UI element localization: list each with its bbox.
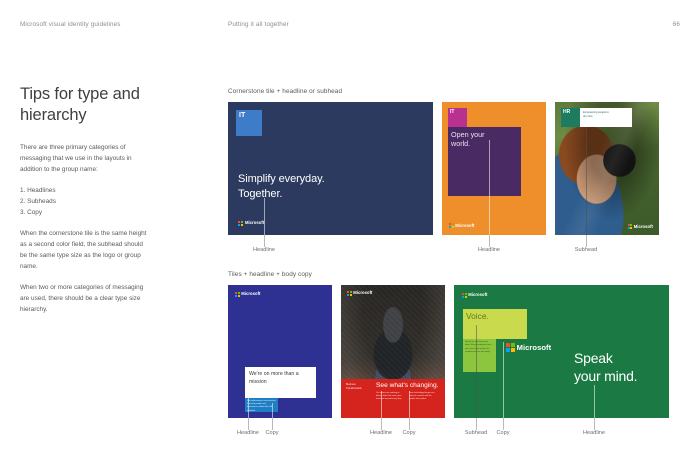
section-label-cornerstone: Cornerstone tile + headline or subhead	[228, 88, 680, 95]
card-captions: Headline	[442, 235, 546, 257]
caption-leader	[489, 235, 490, 247]
card-artwork-photo-red: Microsoft Business Transformation See wh…	[341, 285, 445, 418]
card-copy: Speak up and share your ideas. Every emp…	[465, 341, 494, 354]
example-row-tiles-copy: Microsoft We're on more than a mission W…	[228, 285, 680, 440]
card-headline: Speak your mind.	[574, 350, 637, 385]
caption-headline: Headline	[478, 247, 500, 253]
section-label-tiles-copy: Tiles + headline + body copy	[228, 271, 680, 278]
caption-leader	[248, 418, 249, 430]
example-card-blue-mission[interactable]: Microsoft We're on more than a mission W…	[228, 285, 332, 440]
caption-headline: Headline	[370, 430, 392, 436]
list-item: 2. Subheads	[20, 196, 170, 207]
microsoft-logo: Microsoft	[238, 221, 264, 226]
card-captions: Subhead Copy Headline	[454, 418, 669, 440]
microsoft-logo-squares	[462, 293, 467, 298]
list-item: 1. Headlines	[20, 185, 170, 196]
microsoft-wordmark: Microsoft	[468, 293, 487, 297]
leader-line	[503, 342, 504, 418]
leader-line	[381, 391, 382, 418]
card-artwork-orange: IT Open your world. Microsoft	[442, 102, 546, 235]
microsoft-logo-squares	[235, 292, 240, 297]
list-item: 3. Copy	[20, 207, 170, 218]
tip-paragraph-cornerstone: When the cornerstone tile is the same he…	[20, 228, 148, 272]
cornerstone-tile-it: IT	[448, 108, 467, 127]
microsoft-wordmark: Microsoft	[455, 224, 474, 228]
card-headline: See what's changing.	[376, 382, 438, 389]
microsoft-wordmark: Microsoft	[241, 292, 260, 296]
copy-box: Speak up and share your ideas. Every emp…	[463, 339, 496, 372]
card-copy-column-2: New technology brings new ways to connec…	[409, 392, 437, 402]
example-card-orange-subhead[interactable]: IT Open your world. Microsoft Headline	[442, 102, 546, 257]
caption-leader	[594, 418, 595, 430]
caption-leader	[586, 235, 587, 247]
leader-line	[409, 391, 410, 418]
copy-box: We build products and services that help…	[245, 398, 278, 412]
caption-copy: Copy	[265, 430, 278, 436]
caption-leader	[264, 235, 265, 247]
intro-paragraph: There are three primary categories of me…	[20, 142, 148, 175]
card-artwork-green: Microsoft Voice. Speak up and share your…	[454, 285, 669, 418]
caption-headline: Headline	[583, 430, 605, 436]
runhead-left-title: Microsoft visual identity guidelines	[20, 21, 121, 28]
caption-headline: Headline	[253, 247, 275, 253]
caption-leader	[381, 418, 382, 430]
microsoft-logo-squares	[238, 221, 243, 226]
runhead-section: Putting it all together	[228, 21, 289, 28]
running-head: Microsoft visual identity guidelines Put…	[0, 21, 700, 33]
cornerstone-tile-hr: HR	[561, 108, 580, 127]
headline-box: We're on more than a mission	[245, 367, 316, 398]
microsoft-logo-squares	[449, 223, 454, 228]
card-artwork-navy: IT Simplify everyday. Together. Microsof…	[228, 102, 433, 235]
cornerstone-tile-it: IT	[236, 110, 262, 136]
card-captions: Headline Copy	[341, 418, 445, 440]
microsoft-wordmark: Microsoft	[517, 344, 552, 352]
page-title: Tips for type and hierarchy	[20, 84, 170, 126]
card-subhead: Business Transformation	[346, 383, 370, 391]
microsoft-logo: Microsoft	[449, 223, 474, 228]
example-card-navy-cornerstone[interactable]: IT Simplify everyday. Together. Microsof…	[228, 102, 433, 257]
example-card-red-change[interactable]: Microsoft Business Transformation See wh…	[341, 285, 445, 440]
caption-leader	[476, 418, 477, 430]
card-artwork-photo-hr: HR Empowering people to do more Microsof…	[555, 102, 659, 235]
microsoft-logo-squares	[506, 343, 515, 352]
microsoft-logo: Microsoft	[462, 293, 487, 298]
card-artwork-blue: Microsoft We're on more than a mission W…	[228, 285, 332, 418]
microsoft-logo: Microsoft	[628, 224, 653, 229]
caption-subhead: Subhead	[575, 247, 597, 253]
category-list: 1. Headlines 2. Subheads 3. Copy	[20, 185, 170, 218]
leader-line	[272, 403, 273, 418]
leader-line	[489, 140, 490, 235]
card-headline: We're on more than a mission	[249, 371, 309, 386]
microsoft-logo-squares	[628, 224, 633, 229]
leader-line	[476, 325, 477, 418]
microsoft-wordmark: Microsoft	[353, 291, 372, 295]
tip-paragraph-hierarchy: When two or more categories of messaging…	[20, 282, 148, 315]
example-gallery: Cornerstone tile + headline or subhead I…	[228, 88, 680, 440]
example-card-photo-hr[interactable]: HR Empowering people to do more Microsof…	[555, 102, 659, 257]
microsoft-logo-large: Microsoft	[506, 343, 551, 352]
leader-line	[264, 198, 265, 235]
card-captions: Subhead	[555, 235, 659, 257]
leader-line	[586, 127, 587, 235]
caption-leader	[409, 418, 410, 430]
microsoft-wordmark: Microsoft	[634, 225, 653, 229]
caption-headline: Headline	[237, 430, 259, 436]
caption-leader	[272, 418, 273, 430]
card-subhead: Voice.	[466, 311, 489, 321]
caption-copy: Copy	[496, 430, 509, 436]
example-card-green-voice[interactable]: Microsoft Voice. Speak up and share your…	[454, 285, 669, 440]
microsoft-wordmark: Microsoft	[245, 221, 264, 225]
caption-leader	[503, 418, 504, 430]
card-captions: Headline	[228, 235, 433, 257]
left-column: Tips for type and hierarchy There are th…	[20, 84, 170, 325]
leader-line	[248, 380, 249, 418]
card-subhead: Open your world.	[451, 130, 485, 149]
card-subhead: Empowering people to do more	[583, 111, 609, 119]
example-row-cornerstone: IT Simplify everyday. Together. Microsof…	[228, 102, 680, 257]
card-headline: Simplify everyday. Together.	[238, 172, 325, 201]
microsoft-logo: Microsoft	[347, 291, 372, 296]
card-captions: Headline Copy	[228, 418, 332, 440]
caption-subhead: Subhead	[465, 430, 487, 436]
microsoft-logo: Microsoft	[235, 292, 260, 297]
subhead-box: Empowering people to do more	[580, 108, 632, 127]
page-number: 66	[673, 21, 680, 28]
red-message-band: Business Transformation See what's chang…	[341, 379, 445, 418]
microsoft-logo-squares	[347, 291, 352, 296]
caption-copy: Copy	[402, 430, 415, 436]
leader-line	[594, 385, 595, 418]
